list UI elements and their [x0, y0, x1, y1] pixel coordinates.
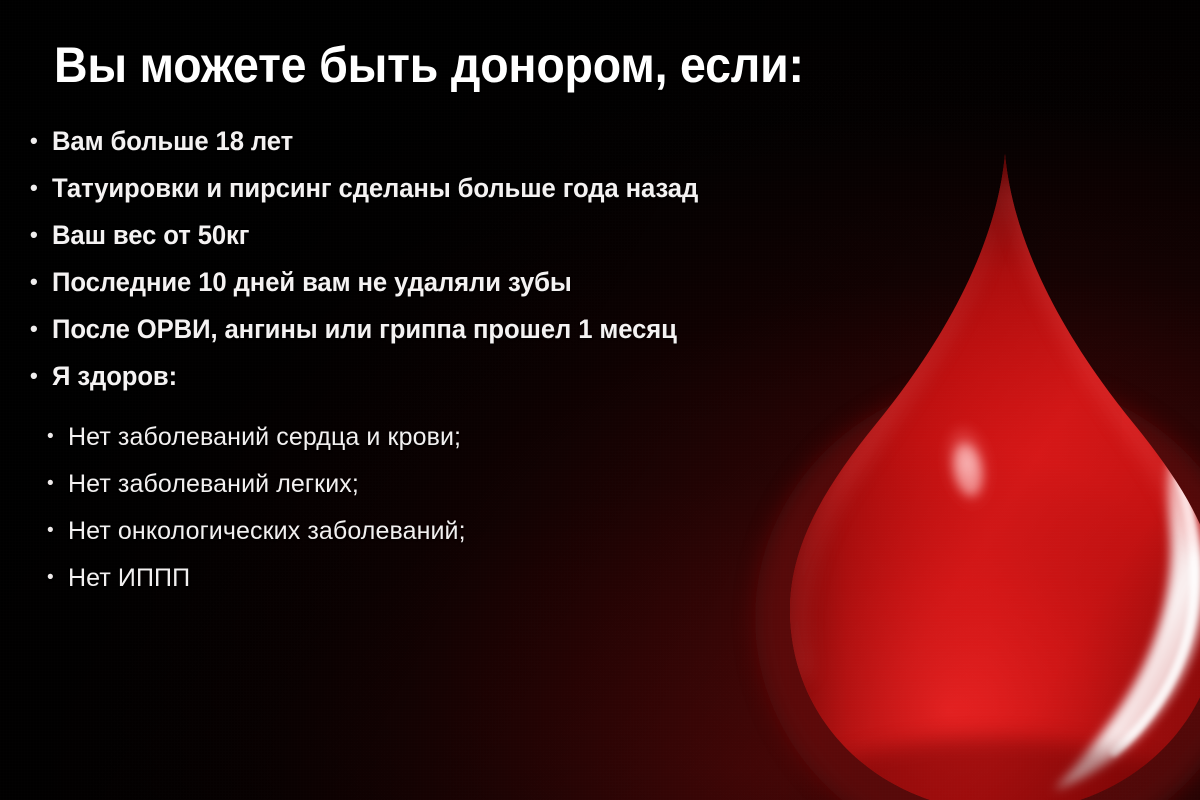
list-item-label: Я здоров: — [52, 359, 177, 393]
sub-list-item-label: Нет онкологических заболеваний; — [68, 514, 466, 548]
bullet-icon: • — [47, 420, 68, 454]
list-item-health-heading: • Я здоров: — [30, 359, 890, 406]
donor-eligibility-poster: Вы можете быть донором, если: • Вам боль… — [0, 0, 1200, 800]
page-title: Вы можете быть донором, если: — [54, 36, 804, 94]
list-item: • Вам больше 18 лет — [30, 124, 890, 171]
list-item: • Последние 10 дней вам не удаляли зубы — [30, 265, 890, 312]
sub-list-item-label: Нет заболеваний сердца и крови; — [68, 420, 461, 454]
list-item-label: Ваш вес от 50кг — [52, 218, 249, 252]
list-item-label: Вам больше 18 лет — [52, 124, 293, 158]
bullet-icon: • — [30, 265, 52, 299]
list-item-label: После ОРВИ, ангины или гриппа прошел 1 м… — [52, 312, 677, 346]
sub-list-item: • Нет заболеваний сердца и крови; — [47, 420, 747, 467]
bullet-icon: • — [30, 218, 52, 252]
list-item: • Ваш вес от 50кг — [30, 218, 890, 265]
sub-list-item: • Нет ИППП — [47, 561, 747, 608]
bullet-icon: • — [47, 467, 68, 501]
health-conditions-list: • Нет заболеваний сердца и крови; • Нет … — [47, 420, 747, 608]
sub-list-item: • Нет онкологических заболеваний; — [47, 514, 747, 561]
bullet-icon: • — [30, 359, 52, 393]
bullet-icon: • — [30, 312, 52, 346]
list-item-label: Последние 10 дней вам не удаляли зубы — [52, 265, 572, 299]
content-column: Вы можете быть донором, если: • Вам боль… — [0, 0, 900, 800]
list-item-label: Татуировки и пирсинг сделаны больше года… — [52, 171, 698, 205]
sub-list-item-label: Нет ИППП — [68, 561, 190, 595]
criteria-list: • Вам больше 18 лет • Татуировки и пирси… — [30, 124, 890, 406]
sub-list-item: • Нет заболеваний легких; — [47, 467, 747, 514]
bullet-icon: • — [47, 561, 68, 595]
list-item: • После ОРВИ, ангины или гриппа прошел 1… — [30, 312, 890, 359]
list-item: • Татуировки и пирсинг сделаны больше го… — [30, 171, 890, 218]
sub-list-item-label: Нет заболеваний легких; — [68, 467, 359, 501]
bullet-icon: • — [30, 124, 52, 158]
bullet-icon: • — [47, 514, 68, 548]
bullet-icon: • — [30, 171, 52, 205]
